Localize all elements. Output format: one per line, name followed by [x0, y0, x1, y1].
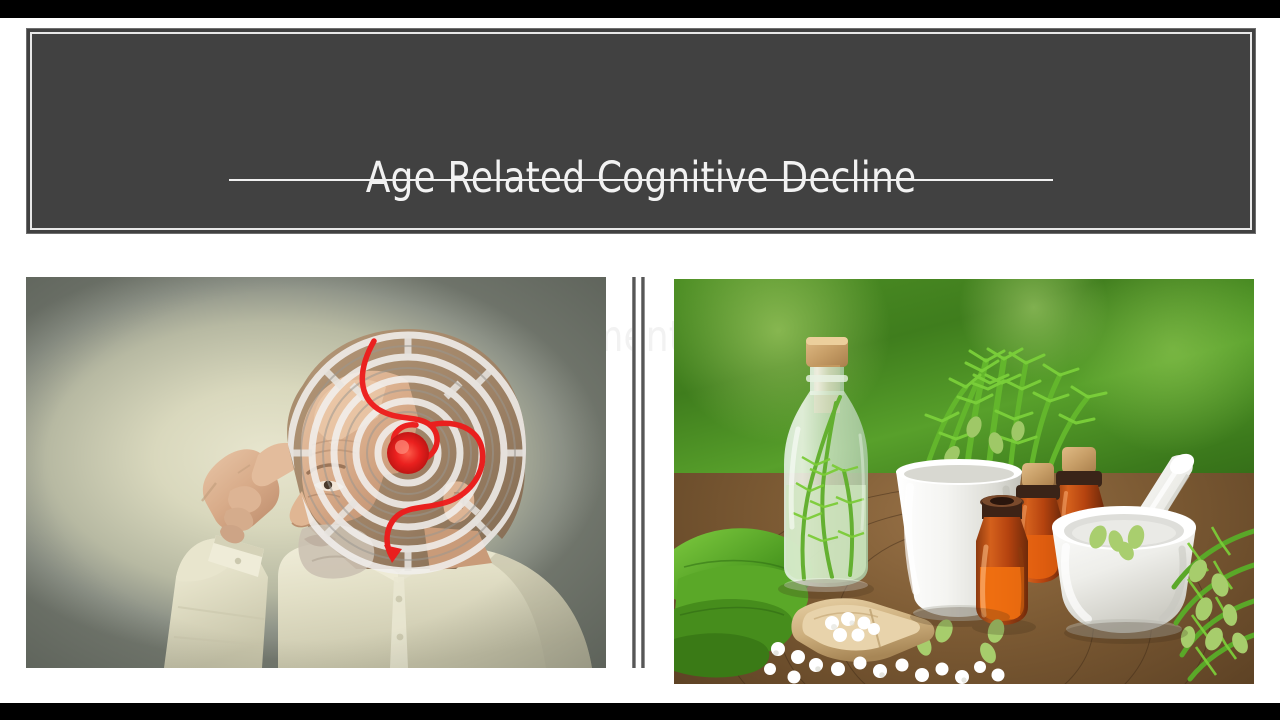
divider-line-left — [632, 277, 636, 668]
amber-bottle-front — [976, 495, 1028, 625]
title-placeholder-box[interactable]: Age Related Cognitive Decline Natural Tr… — [26, 28, 1256, 234]
title-box-inner-border: Age Related Cognitive Decline Natural Tr… — [30, 32, 1252, 230]
herbal-remedies-illustration — [674, 279, 1254, 684]
image-elderly-man-maze-brain[interactable] — [26, 277, 606, 668]
vertical-divider — [632, 277, 646, 668]
letterbox-top-bar — [0, 0, 1280, 18]
divider-line-right — [641, 277, 645, 668]
title-underline-rule — [229, 179, 1053, 181]
left-photo-artwork — [26, 277, 606, 668]
glass-bottle-with-thuja — [784, 337, 868, 592]
slide-canvas: Age Related Cognitive Decline Natural Tr… — [0, 18, 1280, 703]
wooden-scoop — [791, 598, 934, 662]
right-photo-artwork — [674, 279, 1254, 684]
presentation-slide: Age Related Cognitive Decline Natural Tr… — [0, 0, 1280, 720]
letterbox-bottom-bar — [0, 703, 1280, 720]
left-photo-vignette — [26, 277, 606, 668]
image-homeopathy-herbal-remedies[interactable] — [674, 279, 1254, 684]
